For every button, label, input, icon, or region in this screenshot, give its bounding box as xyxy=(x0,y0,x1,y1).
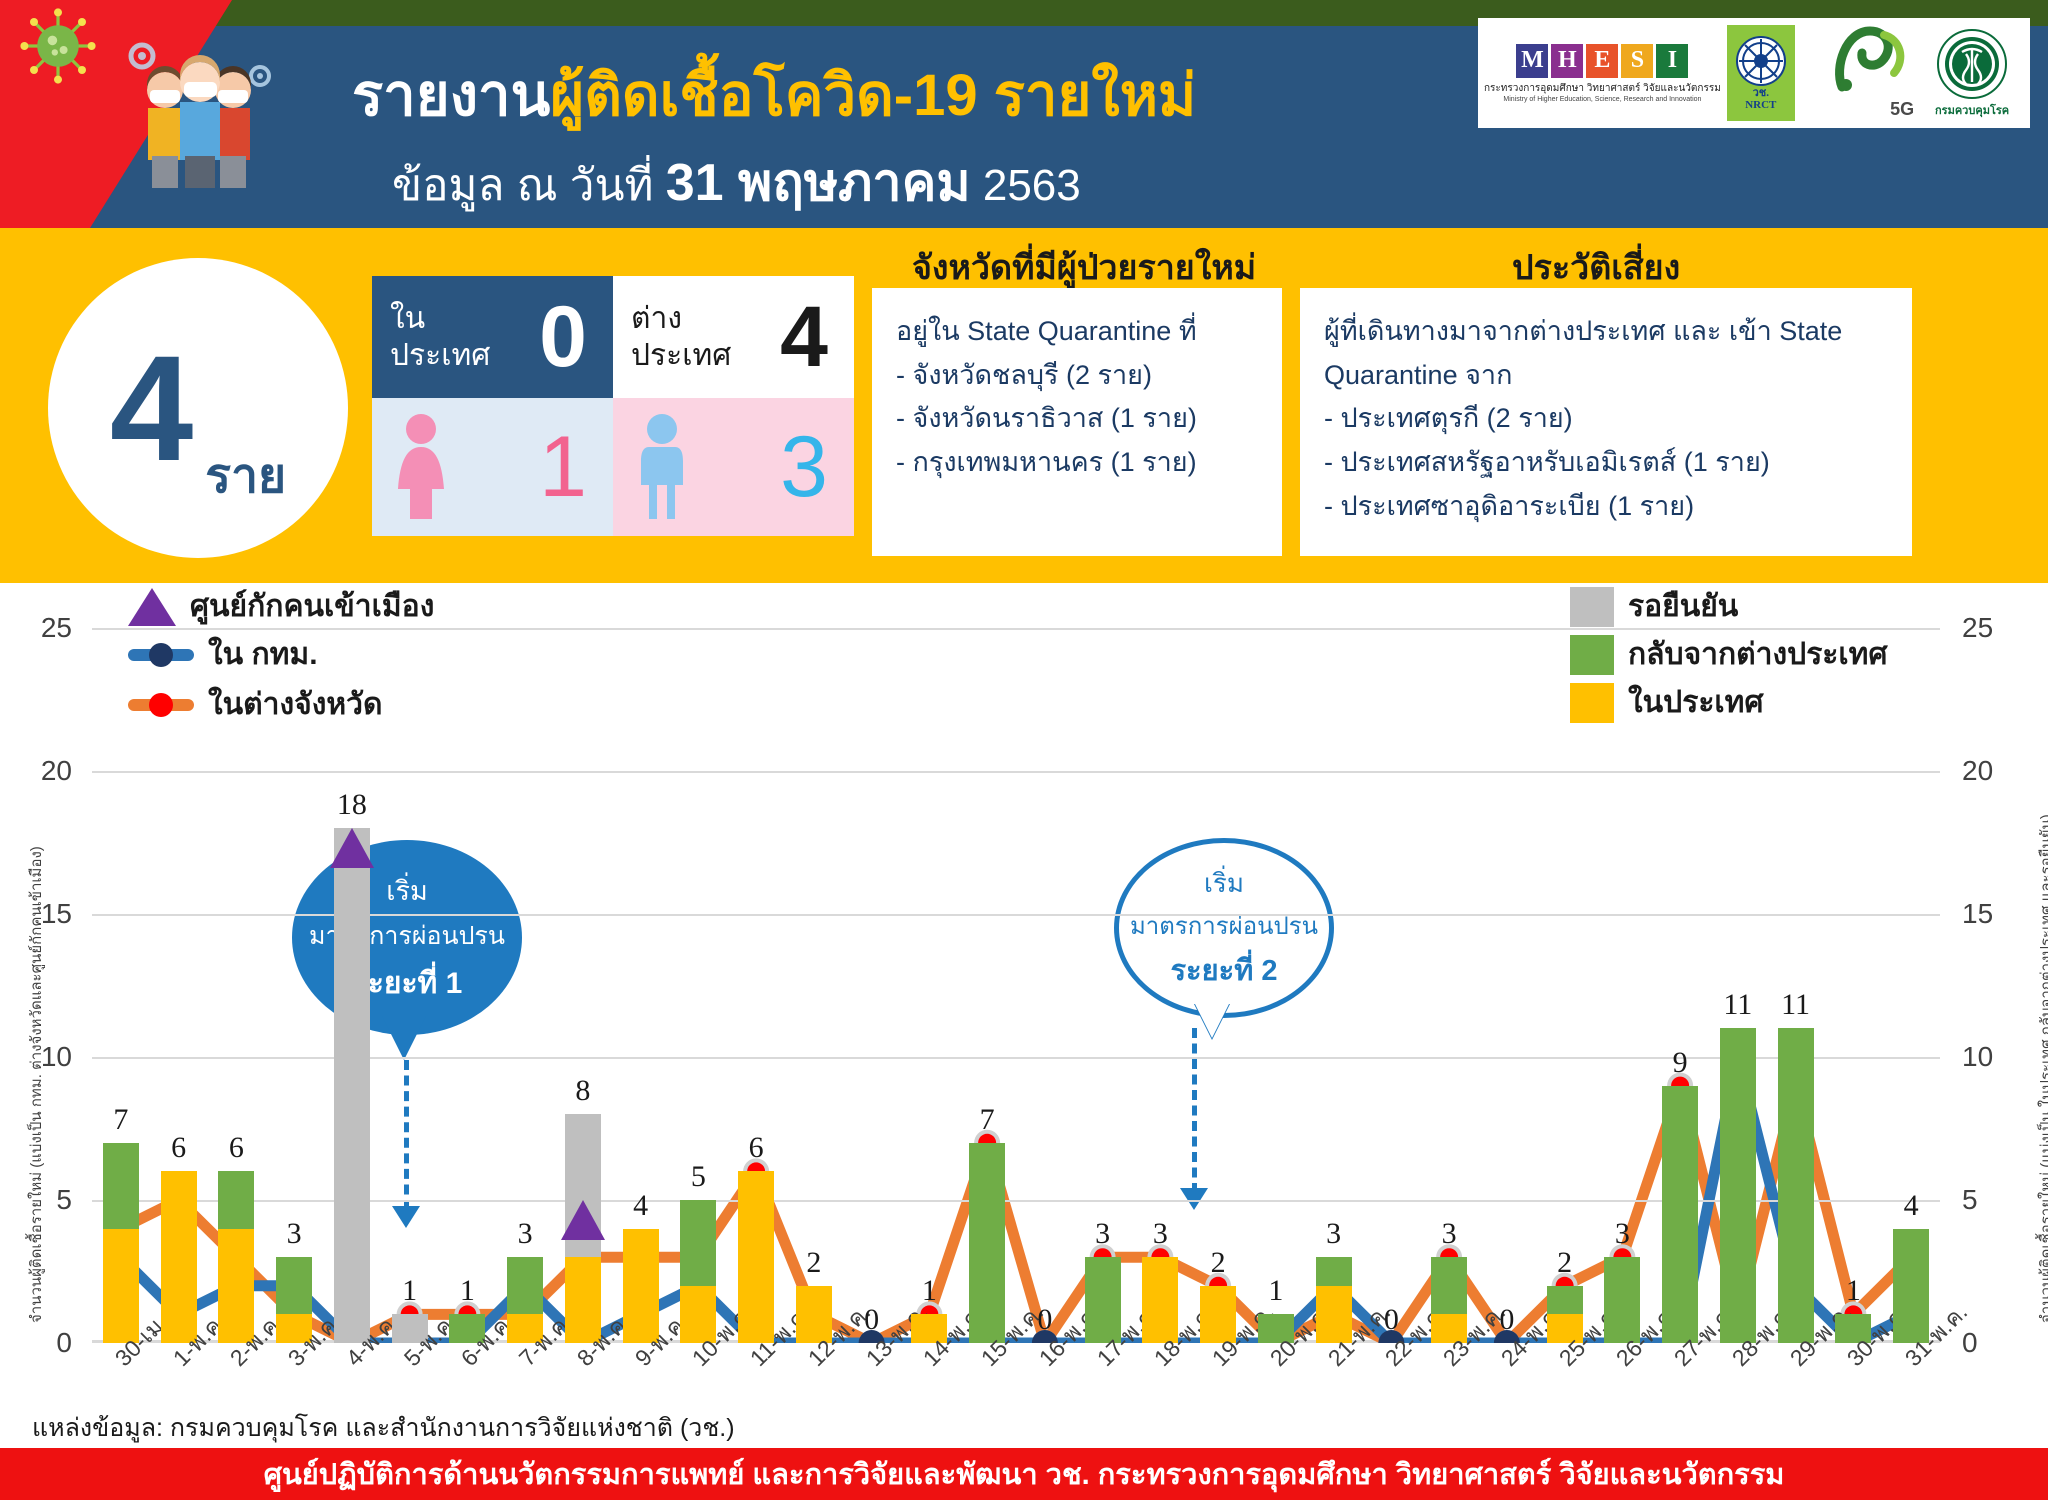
bar-value-label: 1 xyxy=(1818,1274,1890,1308)
provinces-line: - จังหวัดนราธิวาส (1 ราย) xyxy=(896,397,1258,441)
bar-column[interactable]: 3 xyxy=(1085,628,1121,1343)
cases-chart: จำนวนผู้ติดเชื้อรายใหม่ (แบ่งเป็น กทม. ต… xyxy=(0,583,2048,1383)
male-cases-cell: 3 xyxy=(613,398,854,536)
risk-line: Quarantine จาก xyxy=(1324,354,1888,398)
legend-label: กลับจากต่างประเทศ xyxy=(1628,631,1888,678)
immigration-center-triangle-icon xyxy=(561,1200,605,1240)
bar-value-label: 2 xyxy=(778,1246,850,1280)
bar-value-label: 1 xyxy=(432,1274,504,1308)
bar-column[interactable]: 6 xyxy=(218,628,254,1343)
risk-line: - ประเทศสหรัฐอาหรับเอมิเรตส์ (1 ราย) xyxy=(1324,441,1888,485)
provinces-panel: อยู่ใน State Quarantine ที่ - จังหวัดชลบ… xyxy=(872,288,1282,556)
total-cases-circle: 4 ราย xyxy=(48,258,348,558)
mhesi-logo: M H E S I กระทรวงการอุดมศึกษา วิทยาศาสตร… xyxy=(1484,44,1721,103)
domestic-cases-cell: ใน ประเทศ 0 xyxy=(372,276,613,398)
y-tick-left: 5 xyxy=(0,1184,86,1216)
provinces-panel-title: จังหวัดที่มีผู้ป่วยรายใหม่ xyxy=(912,240,1256,294)
total-cases-number: 4 xyxy=(110,341,193,476)
moph-logo: กรมควบคุมโรค xyxy=(1920,28,2024,119)
international-label-line2: ประเทศ xyxy=(631,337,731,375)
bar-column[interactable]: 6 xyxy=(161,628,197,1343)
bar-column[interactable]: 3 xyxy=(1604,628,1640,1343)
subtitle-year: 2563 xyxy=(971,161,1081,210)
bar-segment xyxy=(218,1171,254,1228)
bar-segment xyxy=(1547,1286,1583,1315)
bar-column[interactable]: 3 xyxy=(507,628,543,1343)
nrct-emblem-icon xyxy=(1735,35,1787,87)
bar-value-label: 6 xyxy=(720,1131,792,1165)
mhesi-letter-h: H xyxy=(1551,44,1583,78)
male-icon xyxy=(631,411,693,523)
legend-item-domestic[interactable]: ในประเทศ xyxy=(1570,679,1764,726)
summary-stats-band: 4 ราย ใน ประเทศ 0 ต่าง ประเทศ 4 1 xyxy=(0,228,2048,583)
legend-label: ในต่างจังหวัด xyxy=(208,681,382,728)
bar-column[interactable]: 1 xyxy=(911,628,947,1343)
legend-label: รอยืนยัน xyxy=(1628,583,1738,630)
provinces-line: - กรุงเทพมหานคร (1 ราย) xyxy=(896,441,1258,485)
risk-panel: ผู้ที่เดินทางมาจากต่างประเทศ และ เข้า St… xyxy=(1300,288,1912,556)
y-tick-right: 10 xyxy=(1948,1041,2038,1073)
triangle-marker-icon xyxy=(128,588,176,626)
male-cases-value: 3 xyxy=(780,424,828,510)
subtitle-date: 31 พฤษภาคม xyxy=(666,154,971,212)
nrct-thai-abbr: วช. xyxy=(1753,87,1769,99)
international-cases-cell: ต่าง ประเทศ 4 xyxy=(613,276,854,398)
mhesi-letter-e: E xyxy=(1586,44,1618,78)
bar-value-label: 6 xyxy=(201,1131,273,1165)
mhesi-letter-s: S xyxy=(1621,44,1653,78)
y-tick-left: 20 xyxy=(0,755,86,787)
female-cases-cell: 1 xyxy=(372,398,613,536)
wor-5g-logo: 5G xyxy=(1801,25,1914,122)
bar-segment xyxy=(334,828,370,1343)
risk-panel-title: ประวัติเสี่ยง xyxy=(1512,240,1680,294)
y-tick-right: 15 xyxy=(1948,898,2038,930)
bar-value-label: 4 xyxy=(1875,1189,1947,1223)
line-marker-icon xyxy=(128,699,194,711)
bar-column[interactable]: 2 xyxy=(796,628,832,1343)
mhesi-letter-m: M xyxy=(1516,44,1548,78)
moph-emblem-icon xyxy=(1936,28,2008,100)
risk-line: - ประเทศตุรกี (2 ราย) xyxy=(1324,397,1888,441)
bar-column[interactable]: 7 xyxy=(103,628,139,1343)
legend-item-immigration[interactable]: ศูนย์กักคนเข้าเมือง xyxy=(128,583,434,630)
bar-segment xyxy=(738,1171,774,1343)
bar-segment xyxy=(1720,1028,1756,1343)
bar-value-label: 11 xyxy=(1760,988,1832,1022)
y-tick-right: 25 xyxy=(1948,612,2038,644)
wor-swirl-icon xyxy=(1830,25,1914,99)
moph-thai-name: กรมควบคุมโรค xyxy=(1935,101,2009,119)
bar-column[interactable]: 7 xyxy=(969,628,1005,1343)
immigration-center-triangle-icon xyxy=(330,828,374,868)
mhesi-english-name: Ministry of Higher Education, Science, R… xyxy=(1503,96,1701,103)
line-marker-icon xyxy=(128,649,194,661)
risk-line: ผู้ที่เดินทางมาจากต่างประเทศ และ เข้า St… xyxy=(1324,310,1888,354)
international-label-line1: ต่าง xyxy=(631,300,731,338)
bar-value-label: 3 xyxy=(1587,1217,1659,1251)
mhesi-letter-i: I xyxy=(1656,44,1688,78)
y-tick-left: 25 xyxy=(0,612,86,644)
legend-label: ใน กทม. xyxy=(208,631,318,678)
female-cases-value: 1 xyxy=(539,424,587,510)
y-axis-right-ticks: 0510152025 xyxy=(1948,628,2038,1343)
y-tick-right: 20 xyxy=(1948,755,2038,787)
bar-column[interactable]: 2 xyxy=(1200,628,1236,1343)
nrct-english-abbr: NRCT xyxy=(1745,99,1776,111)
bar-value-label: 7 xyxy=(951,1103,1023,1137)
bar-column[interactable]: 0 xyxy=(1373,628,1409,1343)
bar-column[interactable]: 0 xyxy=(1489,628,1525,1343)
legend-item-pending[interactable]: รอยืนยัน xyxy=(1570,583,1738,630)
mhesi-thai-name: กระทรวงการอุดมศึกษา วิทยาศาสตร์ วิจัยและ… xyxy=(1484,81,1721,96)
international-cases-value: 4 xyxy=(780,294,828,380)
y-axis-left-ticks: 0510152025 xyxy=(0,628,86,1343)
domestic-label: ใน ประเทศ xyxy=(372,300,490,375)
legend-item-abroad[interactable]: กลับจากต่างประเทศ xyxy=(1570,631,1888,678)
bar-column[interactable]: 3 xyxy=(276,628,312,1343)
footer-banner-text: ศูนย์ปฏิบัติการด้านนวัตกรรมการแพทย์ และก… xyxy=(264,1451,1785,1497)
footer-banner: ศูนย์ปฏิบัติการด้านนวัตกรรมการแพทย์ และก… xyxy=(0,1448,2048,1500)
bar-column[interactable]: 9 xyxy=(1662,628,1698,1343)
bar-column[interactable]: 8 xyxy=(565,628,601,1343)
bar-column[interactable]: 18 xyxy=(334,628,370,1343)
y-tick-left: 10 xyxy=(0,1041,86,1073)
domestic-label-line1: ใน xyxy=(390,300,490,338)
bar-value-label: 9 xyxy=(1644,1046,1716,1080)
legend-label: ศูนย์กักคนเข้าเมือง xyxy=(190,583,434,630)
y-tick-left: 15 xyxy=(0,898,86,930)
bar-column[interactable]: 11 xyxy=(1720,628,1756,1343)
bar-value-label: 1 xyxy=(1240,1274,1312,1308)
annotation-phase2-arrow xyxy=(1192,1028,1197,1193)
case-breakdown-grid: ใน ประเทศ 0 ต่าง ประเทศ 4 1 3 xyxy=(372,276,854,536)
swatch-gray-icon xyxy=(1570,587,1614,627)
bar-segment xyxy=(1316,1257,1352,1286)
title-highlight: ผู้ติดเชื้อโควิด-19 รายใหม่ xyxy=(550,63,1196,128)
bar-column[interactable]: 1 xyxy=(392,628,428,1343)
people-with-masks-icon xyxy=(120,38,280,188)
plot-area: เริ่ม มาตรการผ่อนปรน ระยะที่ 1 เริ่ม มาต… xyxy=(92,628,1940,1343)
y-tick-left: 0 xyxy=(0,1327,86,1359)
domestic-label-line2: ประเทศ xyxy=(390,337,490,375)
bar-column[interactable]: 3 xyxy=(1431,628,1467,1343)
risk-line: - ประเทศซาอุดิอาระเบีย (1 ราย) xyxy=(1324,485,1888,529)
bar-column[interactable]: 5 xyxy=(680,628,716,1343)
y-tick-right: 5 xyxy=(1948,1184,2038,1216)
bar-segment xyxy=(161,1171,197,1343)
page-header: รายงานผู้ติดเชื้อโควิด-19 รายใหม่ ข้อมูล… xyxy=(0,0,2048,228)
bar-value-label: 3 xyxy=(1413,1217,1485,1251)
bar-value-label: 3 xyxy=(258,1217,330,1251)
swatch-yellow-icon xyxy=(1570,683,1614,723)
bar-column[interactable]: 4 xyxy=(623,628,659,1343)
legend-item-provincial[interactable]: ในต่างจังหวัด xyxy=(128,681,382,728)
international-label: ต่าง ประเทศ xyxy=(613,300,731,375)
bar-column[interactable]: 0 xyxy=(1027,628,1063,1343)
bar-column[interactable]: 0 xyxy=(854,628,890,1343)
bar-value-label: 3 xyxy=(1298,1217,1370,1251)
bar-column[interactable]: 1 xyxy=(449,628,485,1343)
legend-label: ในประเทศ xyxy=(1628,679,1764,726)
bar-value-label: 3 xyxy=(489,1217,561,1251)
female-icon xyxy=(390,411,452,523)
bar-column[interactable]: 3 xyxy=(1316,628,1352,1343)
nrct-logo: วช. NRCT xyxy=(1727,25,1795,121)
bar-segment xyxy=(1662,1086,1698,1343)
source-note: แหล่งข้อมูล: กรมควบคุมโรค และสำนักงานการ… xyxy=(32,1408,735,1448)
domestic-cases-value: 0 xyxy=(539,294,587,380)
bar-segment xyxy=(1778,1028,1814,1343)
coronavirus-icon xyxy=(18,6,98,86)
bar-segment xyxy=(680,1200,716,1286)
bar-value-label: 8 xyxy=(547,1074,619,1108)
title-prefix: รายงาน xyxy=(352,63,550,128)
logo-panel: M H E S I กระทรวงการอุดมศึกษา วิทยาศาสตร… xyxy=(1478,18,2030,128)
page-subtitle: ข้อมูล ณ วันที่ 31 พฤษภาคม 2563 xyxy=(392,140,1081,223)
provinces-line: อยู่ใน State Quarantine ที่ xyxy=(896,310,1258,354)
total-cases-unit: ราย xyxy=(205,438,286,514)
mhesi-letter-blocks: M H E S I xyxy=(1516,44,1688,78)
bar-column[interactable]: 4 xyxy=(1893,628,1929,1343)
bar-column[interactable]: 3 xyxy=(1142,628,1178,1343)
bar-column[interactable]: 11 xyxy=(1778,628,1814,1343)
bar-column[interactable]: 1 xyxy=(1258,628,1294,1343)
bar-segment xyxy=(507,1257,543,1314)
bar-segment xyxy=(969,1143,1005,1343)
bar-column[interactable]: 1 xyxy=(1835,628,1871,1343)
bar-column[interactable]: 6 xyxy=(738,628,774,1343)
swatch-green-icon xyxy=(1570,635,1614,675)
bar-column[interactable]: 2 xyxy=(1547,628,1583,1343)
page-title: รายงานผู้ติดเชื้อโควิด-19 รายใหม่ xyxy=(352,48,1196,141)
legend-item-bangkok[interactable]: ใน กทม. xyxy=(128,631,318,678)
bar-segment xyxy=(103,1143,139,1229)
wor-5g-badge: 5G xyxy=(1890,99,1914,120)
bar-value-label: 1 xyxy=(894,1274,966,1308)
bar-value-label: 18 xyxy=(316,788,388,822)
bar-segment xyxy=(276,1257,312,1314)
bar-segment xyxy=(1431,1257,1467,1314)
subtitle-prefix: ข้อมูล ณ วันที่ xyxy=(392,161,666,210)
provinces-line: - จังหวัดชลบุรี (2 ราย) xyxy=(896,354,1258,398)
